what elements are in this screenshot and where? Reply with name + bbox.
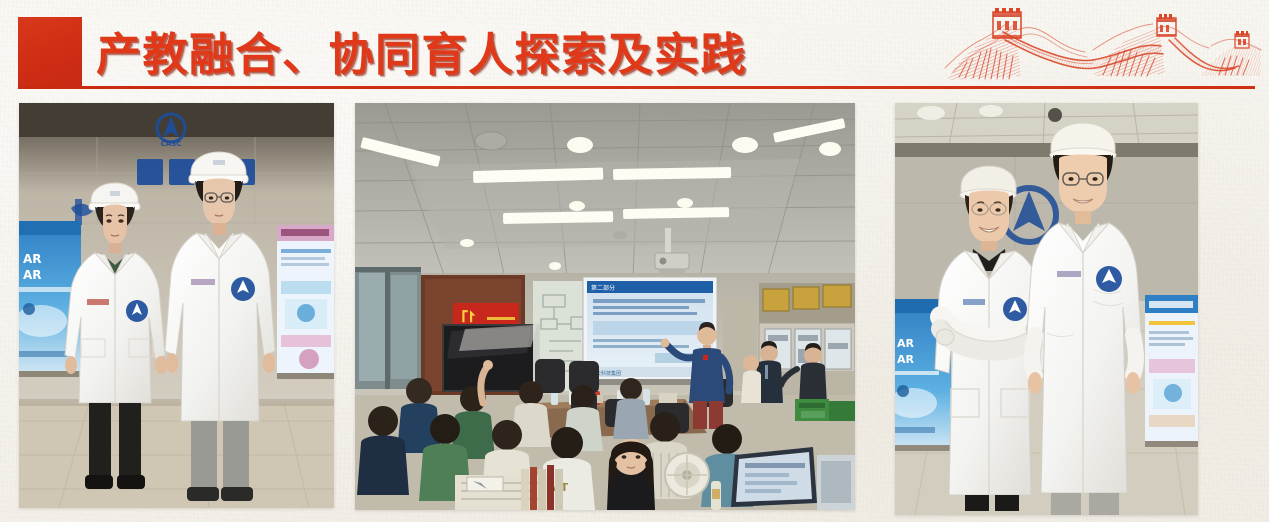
svg-text:AR: AR — [897, 337, 915, 350]
photo-pair-lab-coats: AR AR — [895, 103, 1198, 515]
svg-text:CASC: CASC — [161, 140, 182, 148]
svg-text:AR: AR — [23, 268, 42, 282]
photo-students-casc-wall: CASC AR AR — [19, 103, 334, 508]
svg-text:第二部分: 第二部分 — [591, 284, 615, 292]
photo-gallery: CASC AR AR — [0, 0, 1269, 522]
desk-fan — [665, 453, 709, 497]
poster-right — [1145, 295, 1198, 447]
laptop — [731, 447, 817, 507]
svg-text:AR: AR — [897, 353, 915, 366]
audience-foreground — [607, 439, 655, 510]
slide-canvas: 产教融合、协同育人探索及实践 — [0, 0, 1269, 522]
svg-text:AR: AR — [23, 252, 42, 266]
photo-lecture-room: 第二部分 航天科技集团 — [355, 103, 855, 510]
